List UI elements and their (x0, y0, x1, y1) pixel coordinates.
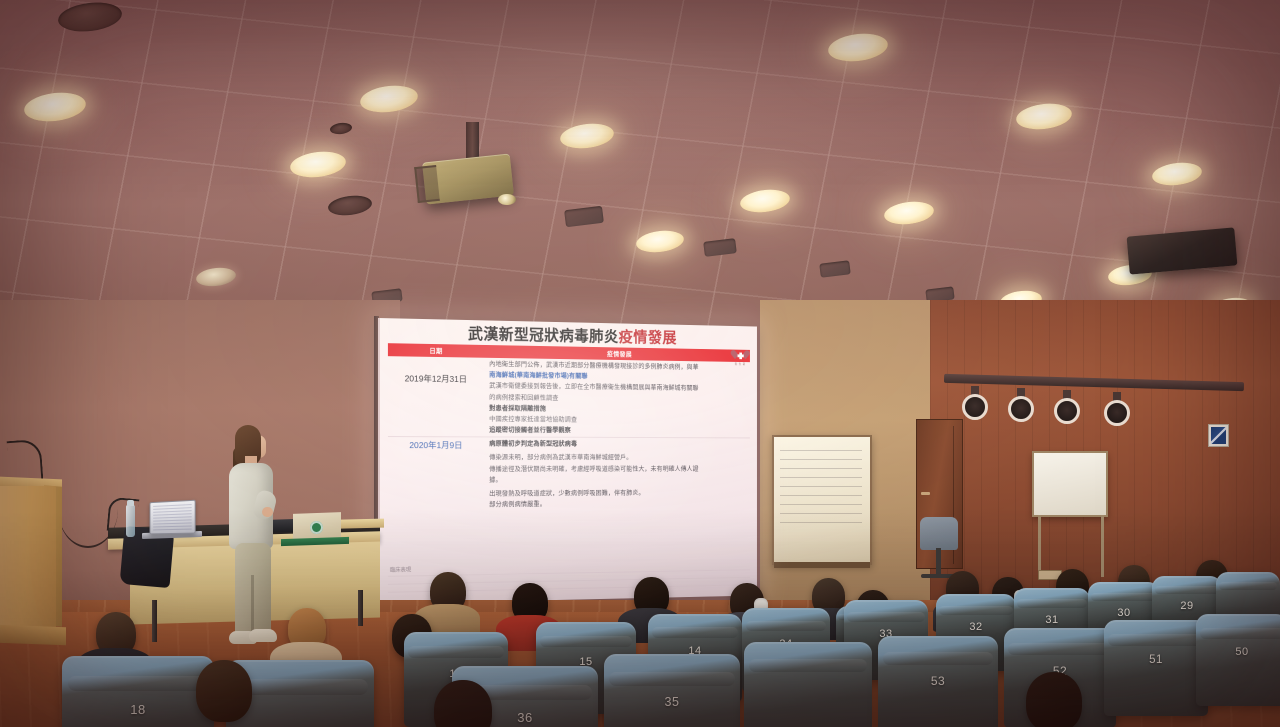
cell-date: 2019年12月31日 (388, 356, 484, 437)
logo-caption: 衛 生 署 (735, 361, 746, 365)
wooden-lectern (0, 486, 56, 632)
heart-cross-icon (735, 350, 746, 361)
presenter-shoe (249, 629, 277, 642)
table-row: 2020年1月9日 病原體初步判定為新型冠狀病毒 傳染源未明，部分病例為武漢市華… (388, 437, 750, 512)
event-line: 追蹤密切接觸者並行醫學觀察 (489, 425, 746, 437)
ceiling-sheen (0, 0, 1280, 330)
audience-head (196, 660, 252, 722)
projector-bracket (414, 165, 440, 203)
projection-screen: 武漢新型冠狀病毒肺炎疫情發展 衛 生 署 日期 疫情發展 2019年12月31日 (378, 318, 757, 604)
presenter (215, 425, 285, 650)
event-line: 傳播途徑及潛伏期尚未明確，考慮經呼吸道感染可能性大，未有明確人傳人證 (489, 463, 746, 474)
slide-title-plain: 武漢新型冠狀病毒肺炎 (468, 326, 619, 346)
event-line: 傳染源未明，部分病例為武漢市華南海鮮城經營戶。 (489, 453, 746, 464)
seat-number: 30 (1088, 607, 1160, 619)
seat-number: 29 (1152, 600, 1222, 612)
auditorium-seat: 18 (62, 656, 214, 727)
lecture-hall-photo: 武漢新型冠狀病毒肺炎疫情發展 衛 生 署 日期 疫情發展 2019年12月31日 (0, 0, 1280, 727)
presenter-hand (262, 507, 273, 517)
seat-number: 32 (936, 621, 1016, 633)
cell-date: 2020年1月9日 (388, 437, 484, 512)
cell-development: 內地衛生部門公佈，武漢市近期部分醫療機構發現接診的多例肺炎病例，與華 南海鮮城(… (483, 358, 749, 438)
table-row: 2019年12月31日 內地衛生部門公佈，武漢市近期部分醫療機構發現接診的多例肺… (388, 356, 750, 438)
seat-number: 18 (62, 702, 214, 717)
table-leg (358, 590, 363, 626)
presenter-leg-split (251, 575, 254, 633)
equipment-indicator (310, 521, 323, 534)
epidemic-timeline-table: 日期 疫情發展 2019年12月31日 內地衛生部門公佈，武漢市近期部分醫療機構… (388, 343, 750, 512)
whiteboard-marker-tray (774, 562, 870, 568)
chair-stem (936, 548, 941, 576)
event-line: 據。 (489, 474, 746, 486)
wall-sign-icon (1208, 424, 1229, 447)
auditorium-seat: 50 (1196, 614, 1280, 706)
mobile-whiteboard (1032, 451, 1108, 517)
projector-lens (498, 194, 516, 205)
organization-logo: 衛 生 署 (727, 345, 753, 371)
auditorium-seat: 51 (1104, 620, 1208, 716)
whiteboard-writing (780, 445, 862, 523)
door-handle[interactable] (921, 492, 930, 495)
auditorium-seat: 53 (878, 636, 998, 727)
ceiling (0, 0, 1280, 330)
water-bottle (126, 505, 135, 537)
cell-development: 病原體初步判定為新型冠狀病毒 傳染源未明，部分病例為武漢市華南海鮮城經營戶。 傳… (483, 437, 749, 511)
table-leg (152, 600, 157, 642)
laptop-screen[interactable] (150, 500, 196, 535)
slide-title-highlight: 疫情發展 (619, 329, 677, 346)
office-chair (920, 517, 958, 550)
lectern-base (0, 625, 66, 645)
auditorium-seat (744, 642, 872, 727)
seat-number: 35 (604, 695, 740, 709)
slide-footnote: 臨床表現 (390, 565, 411, 573)
auditorium-seat: 35 (604, 654, 740, 727)
event-line: 病原體初步判定為新型冠狀病毒 (489, 439, 746, 450)
bottle-cap (127, 500, 134, 506)
audience-head (1026, 672, 1082, 727)
wall-whiteboard (772, 435, 872, 565)
mobile-whiteboard-stand (1038, 515, 1104, 577)
seat-number: 53 (878, 674, 998, 688)
event-line: 部分病例病情嚴重。 (489, 498, 746, 511)
seat-number: 50 (1196, 646, 1280, 658)
seat-number: 31 (1014, 614, 1090, 626)
seat-number: 51 (1104, 654, 1208, 666)
